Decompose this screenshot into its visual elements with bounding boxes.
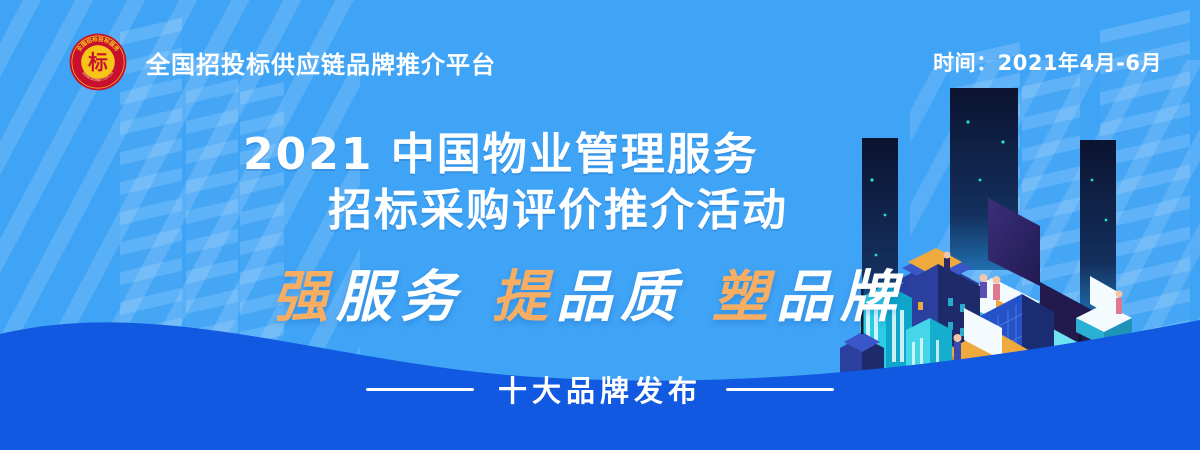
slogan-part-4: 品质 xyxy=(556,264,684,330)
event-title-line-2: 招标采购评价推介活动 xyxy=(328,174,788,238)
platform-brand-title: 全国招投标供应链品牌推介平台 xyxy=(146,45,496,80)
slogan-part-3: 提 xyxy=(492,264,556,330)
event-title-line-1: 2021 中国物业管理服务 xyxy=(243,118,759,182)
svg-text:标: 标 xyxy=(88,51,108,74)
promo-banner: 标 全国招标投标服务 www.bidtop.com.cn 全国招投标供应链品牌推… xyxy=(0,0,1200,450)
organization-logo-icon: 标 全国招标投标服务 www.bidtop.com.cn xyxy=(69,33,127,91)
slogan-part-1: 强 xyxy=(272,264,336,330)
banner-header: 标 全国招标投标服务 www.bidtop.com.cn 全国招投标供应链品牌推… xyxy=(0,0,1200,100)
slogan-part-5: 塑 xyxy=(712,264,776,330)
slogan-part-6: 品牌 xyxy=(776,264,904,330)
event-date-text: 时间：2021年4月-6月 xyxy=(933,47,1162,77)
event-slogan: 强服务提品质塑品牌 xyxy=(272,252,904,333)
slogan-part-2: 服务 xyxy=(336,264,464,330)
